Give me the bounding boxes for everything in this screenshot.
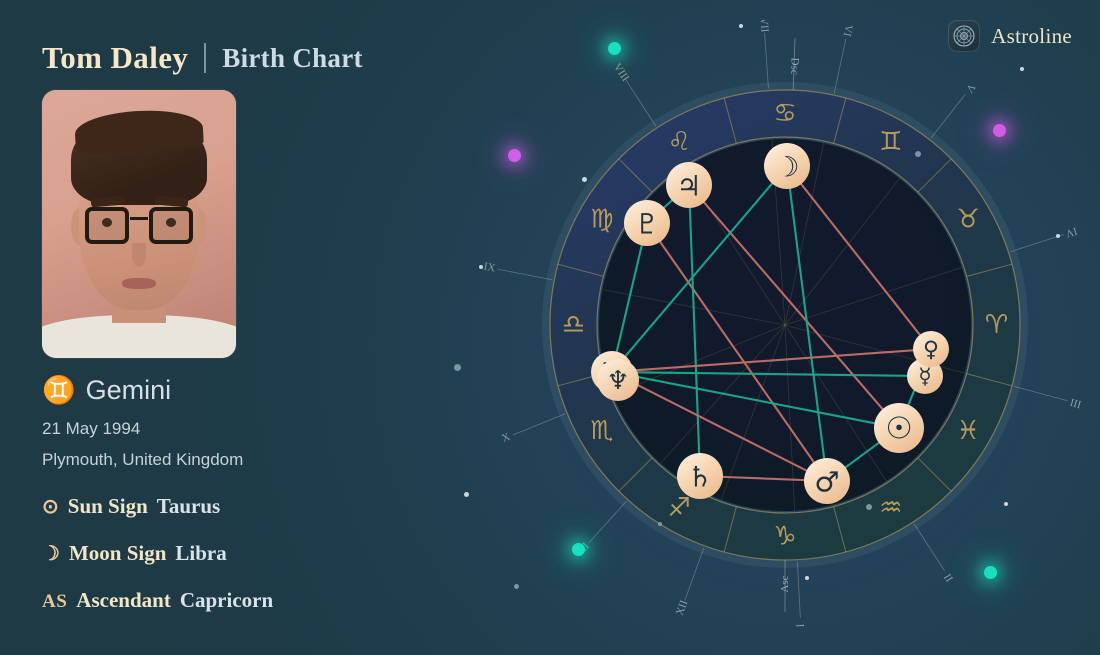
planet-token-moon[interactable]: ☽ <box>764 143 810 189</box>
zodiac-glyph-virgo: ♍ <box>590 204 613 234</box>
background-star <box>993 124 1006 137</box>
cosmic-background: Tom Daley Birth Chart Astroline <box>0 0 1100 655</box>
birth-date: 21 May 1994 <box>42 419 140 439</box>
planet-token-venus[interactable]: ♀ <box>913 331 949 367</box>
page-title: Tom Daley Birth Chart <box>42 40 363 76</box>
background-star <box>805 576 809 580</box>
planet-token-jupiter[interactable]: ♃ <box>666 162 712 208</box>
birth-place: Plymouth, United Kingdom <box>42 450 243 470</box>
svg-text:♃: ♃ <box>676 170 701 203</box>
svg-text:☉: ☉ <box>885 412 912 447</box>
sun-icon: ⊙ <box>42 494 59 519</box>
fact-ascendant: AS Ascendant Capricorn <box>42 588 273 613</box>
zodiac-glyph-sagittarius: ♐ <box>668 493 691 523</box>
zodiac-glyph-taurus: ♉ <box>957 204 980 234</box>
background-star <box>984 566 997 579</box>
zodiac-glyph-aquarius: ♒ <box>879 493 902 523</box>
svg-text:♂: ♂ <box>814 466 839 499</box>
background-star <box>739 24 743 28</box>
house-leader-line <box>685 548 704 601</box>
fact-sun-sign: ⊙ Sun Sign Taurus <box>42 494 220 519</box>
svg-text:☽: ☽ <box>774 151 799 184</box>
house-numeral: X <box>500 431 512 445</box>
house-numeral: VIII <box>611 61 632 84</box>
house-leader-line <box>914 524 944 571</box>
sun-sign-label: Sun Sign <box>68 494 148 519</box>
planet-token-pluto[interactable]: ♇ <box>624 200 670 246</box>
background-star <box>464 492 469 497</box>
house-numeral: II <box>942 571 956 584</box>
zodiac-glyph-leo: ♌ <box>668 127 691 157</box>
sun-sign-value: Taurus <box>157 494 220 519</box>
svg-text:♇: ♇ <box>634 208 659 241</box>
axis-label: Dsc <box>788 57 801 75</box>
planet-token-saturn[interactable]: ♄ <box>677 453 723 499</box>
house-leader-line <box>834 38 846 93</box>
zodiac-glyph-gemini: ♊ <box>879 127 902 157</box>
moon-icon: ☽ <box>42 541 60 566</box>
house-leader-line <box>497 269 552 280</box>
background-star <box>866 504 872 510</box>
background-star <box>1020 67 1024 71</box>
svg-text:♆: ♆ <box>607 366 630 396</box>
background-star <box>454 364 461 371</box>
house-numeral: VII <box>757 20 770 33</box>
background-star <box>1004 502 1008 506</box>
house-numeral: I <box>795 623 807 628</box>
zodiac-glyph-pisces: ♓ <box>957 416 980 446</box>
zodiac-glyph-capricorn: ♑ <box>773 522 796 552</box>
background-star <box>514 584 519 589</box>
ascendant-value: Capricorn <box>180 588 273 613</box>
moon-sign-value: Libra <box>175 541 226 566</box>
house-leader-line <box>625 79 655 126</box>
axis-label: Asc <box>779 575 791 592</box>
background-star <box>479 265 483 269</box>
zodiac-glyph-cancer: ♋ <box>773 99 796 129</box>
page-subtitle: Birth Chart <box>222 43 363 74</box>
background-star <box>582 177 587 182</box>
house-numeral: VI <box>840 24 854 38</box>
ascendant-icon: AS <box>42 591 67 613</box>
zodiac-glyph-libra: ♎ <box>562 310 585 340</box>
gemini-icon: ♊ <box>42 377 76 404</box>
moon-sign-label: Moon Sign <box>69 541 166 566</box>
house-numeral: V <box>963 81 977 95</box>
planet-token-sun[interactable]: ☉ <box>874 403 924 453</box>
background-star <box>1056 234 1060 238</box>
ascendant-label: Ascendant <box>76 588 171 613</box>
background-star <box>915 151 921 157</box>
person-name: Tom Daley <box>42 40 188 76</box>
portrait-photo <box>42 90 236 358</box>
svg-text:♀: ♀ <box>923 338 939 363</box>
house-leader-line <box>797 562 800 618</box>
house-leader-line <box>765 33 769 89</box>
natal-chart-wheel[interactable]: IIIIIIIVVVIVIIVIIIIXXXIXIIAscDsc♎♍♌♋♊♉♈♓… <box>480 20 1090 630</box>
title-divider <box>204 43 206 73</box>
svg-text:♄: ♄ <box>687 461 712 494</box>
zodiac-sign-name: Gemini <box>86 375 172 406</box>
background-star <box>608 42 621 55</box>
house-numeral: III <box>1069 396 1083 411</box>
svg-text:☿: ☿ <box>918 365 931 390</box>
planet-token-mars[interactable]: ♂ <box>804 458 850 504</box>
fact-moon-sign: ☽ Moon Sign Libra <box>42 541 227 566</box>
house-numeral: IV <box>1064 224 1079 239</box>
house-leader-line <box>513 414 565 435</box>
house-leader-line <box>589 501 626 543</box>
background-star <box>658 522 662 526</box>
background-star <box>508 149 521 162</box>
house-numeral: IX <box>483 261 497 275</box>
house-leader-line <box>931 94 965 138</box>
house-leader-line <box>1014 386 1068 400</box>
background-star <box>572 543 585 556</box>
house-numeral: XII <box>674 598 691 617</box>
planet-token-neptune[interactable]: ♆ <box>597 359 639 401</box>
zodiac-glyph-scorpio: ♏ <box>590 416 613 446</box>
zodiac-sign: ♊ Gemini <box>42 375 171 406</box>
zodiac-glyph-aries: ♈ <box>985 310 1008 340</box>
